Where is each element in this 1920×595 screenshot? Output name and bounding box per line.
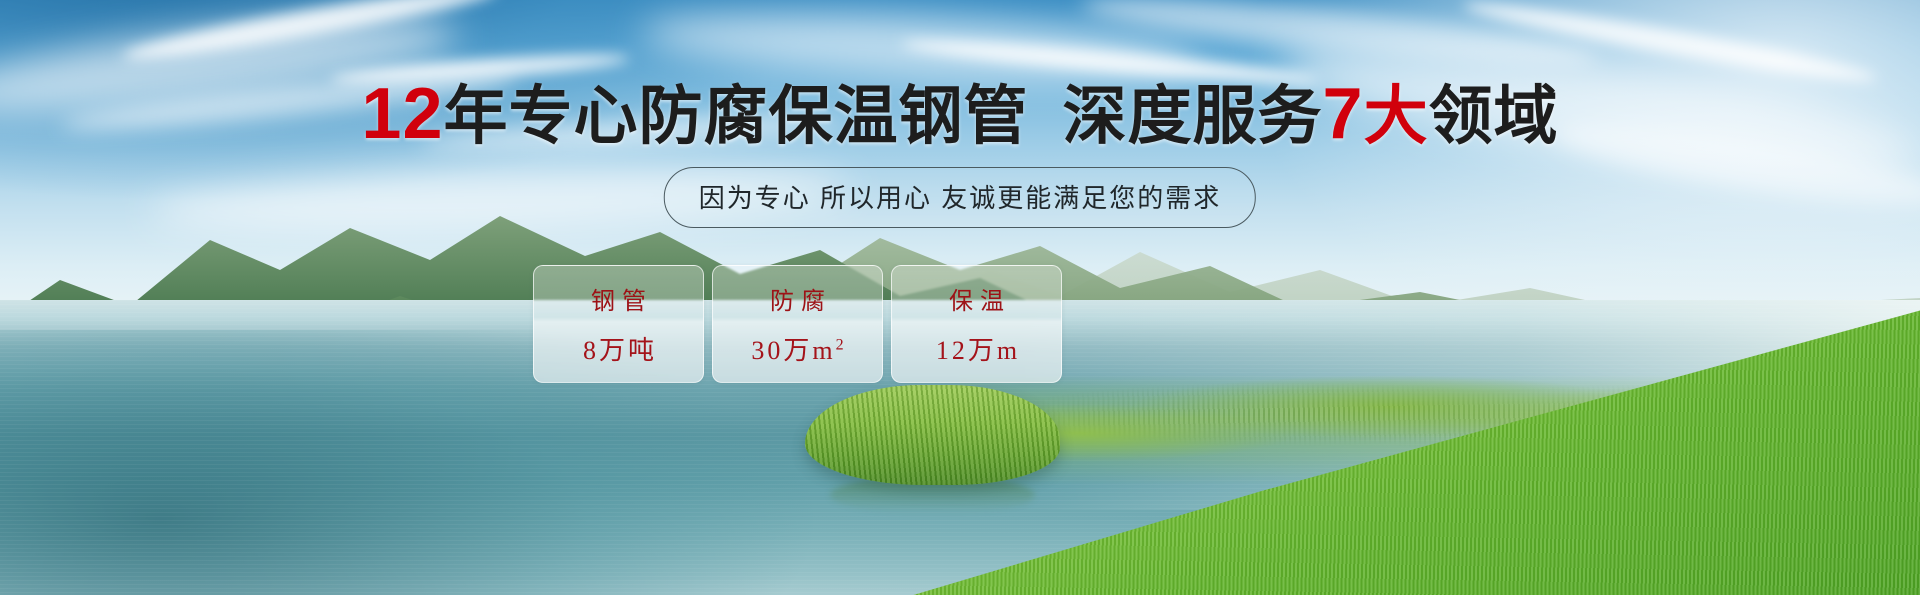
stat-card-value: 8万吨	[580, 330, 657, 367]
stat-card-value-superscript: 2	[836, 336, 847, 353]
stat-card-steel-pipe[interactable]: 钢管 8万吨	[533, 265, 704, 383]
stat-card-title: 保温	[942, 281, 1011, 316]
stat-card-value: 12万m	[933, 330, 1020, 367]
stat-card-value-text: 8万吨	[583, 336, 657, 365]
stat-card-value-text: 12万m	[936, 336, 1020, 365]
headline-years-number: 12	[361, 74, 443, 154]
stat-card-title: 钢管	[584, 281, 653, 316]
promo-banner: 12年专心防腐保温钢管深度服务7大领域 因为专心 所以用心 友诚更能满足您的需求…	[0, 0, 1920, 595]
headline-fields-text: 领域	[1429, 80, 1559, 152]
stat-card-anticorrosion[interactable]: 防腐 30万m2	[712, 265, 883, 383]
headline-main-text: 年专心防腐保温钢管	[444, 80, 1029, 152]
stat-card-value-text: 30万m	[751, 336, 835, 365]
stat-card-group: 钢管 8万吨 防腐 30万m2 保温 12万m	[533, 265, 1062, 383]
stat-card-value: 30万m2	[748, 330, 846, 367]
banner-subtitle-pill: 因为专心 所以用心 友诚更能满足您的需求	[664, 167, 1256, 228]
headline-fields-measure: 大	[1364, 80, 1429, 152]
headline-service-text: 深度服务	[1063, 80, 1323, 152]
stat-card-title: 防腐	[763, 281, 832, 316]
banner-headline: 12年专心防腐保温钢管深度服务7大领域	[0, 78, 1920, 150]
headline-fields-number: 7	[1323, 74, 1364, 154]
grass-islet-texture	[805, 385, 1060, 485]
stat-card-insulation[interactable]: 保温 12万m	[891, 265, 1062, 383]
